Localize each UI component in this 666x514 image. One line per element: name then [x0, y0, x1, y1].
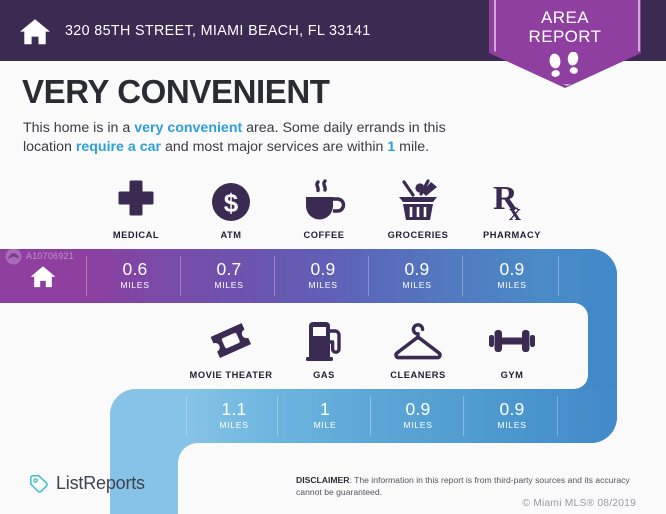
distance-value-coffee: 0.9 MILES — [278, 259, 368, 290]
amenity-label: COFFEE — [278, 230, 370, 240]
bar-divider — [274, 256, 275, 296]
subtitle-highlight-1: very convenient — [134, 120, 242, 136]
disclaimer-label: DISCLAIMER — [296, 475, 349, 485]
home-icon — [18, 14, 52, 48]
distance-number: 0.7 — [184, 259, 274, 279]
distance-unit: MILES — [184, 280, 274, 290]
bar-divider — [186, 396, 187, 436]
amenity-groceries: GROCERIES — [371, 178, 465, 240]
gas-pump-icon — [278, 318, 370, 364]
distance-number: 0.9 — [278, 259, 368, 279]
home-marker-icon — [28, 261, 58, 291]
subtitle-part-1: This home is in a — [23, 120, 134, 136]
amenity-pharmacy: R x PHARMACY — [465, 178, 559, 240]
distance-value-gas: 1 MILE — [281, 399, 369, 430]
distance-value-movie-theater: 1.1 MILES — [190, 399, 278, 430]
dumbbell-icon — [465, 318, 559, 364]
distance-unit: MILES — [466, 280, 558, 290]
distance-number: 1.1 — [190, 399, 278, 419]
amenity-label: MOVIE THEATER — [185, 370, 277, 380]
bar-divider — [463, 396, 464, 436]
amenity-label: MEDICAL — [90, 230, 182, 240]
disclaimer: DISCLAIMER: The information in this repo… — [296, 475, 636, 498]
distance-number: 0.9 — [372, 259, 462, 279]
badge-line-1: AREA — [489, 8, 641, 27]
origin-home-cell — [0, 249, 86, 303]
distance-value-gym: 0.9 MILES — [467, 399, 557, 430]
listreports-tag-icon — [28, 473, 49, 494]
distance-value-pharmacy: 0.9 MILES — [466, 259, 558, 290]
distance-number: 1 — [281, 399, 369, 419]
amenity-coffee: COFFEE — [278, 178, 370, 240]
amenity-label: GAS — [278, 370, 370, 380]
subtitle-part-3: and most major services are within — [161, 139, 387, 155]
bar-divider — [370, 396, 371, 436]
amenity-movie-theater: MOVIE THEATER — [185, 318, 277, 380]
amenity-label: CLEANERS — [371, 370, 465, 380]
distance-value-atm: 0.7 MILES — [184, 259, 274, 290]
distance-value-cleaners: 0.9 MILES — [374, 399, 462, 430]
distance-unit: MILES — [374, 420, 462, 430]
coffee-cup-icon — [278, 178, 370, 224]
movie-ticket-icon — [185, 318, 277, 364]
bar-divider — [368, 256, 369, 296]
svg-text:$: $ — [224, 188, 239, 218]
grocery-basket-icon — [371, 178, 465, 224]
page-subtitle: This home is in a very convenient area. … — [23, 119, 483, 156]
subtitle-part-4: mile. — [395, 139, 429, 155]
amenity-label: GYM — [465, 370, 559, 380]
badge-line-2: REPORT — [489, 27, 641, 46]
amenity-cleaners: CLEANERS — [371, 318, 465, 380]
mls-credit: © Miami MLS® 08/2019 — [330, 498, 636, 509]
amenity-label: ATM — [185, 230, 277, 240]
medical-cross-icon — [90, 178, 182, 224]
bar-divider — [557, 396, 558, 436]
distance-unit: MILES — [467, 420, 557, 430]
distance-unit: MILES — [190, 420, 278, 430]
amenity-medical: MEDICAL — [90, 178, 182, 240]
clothes-hanger-icon — [371, 318, 465, 364]
amenity-label: GROCERIES — [371, 230, 465, 240]
atm-dollar-icon: $ — [185, 178, 277, 224]
distance-unit: MILES — [278, 280, 368, 290]
pharmacy-rx-icon: R x — [465, 178, 559, 224]
distance-unit: MILE — [281, 420, 369, 430]
distance-unit: MILES — [372, 280, 462, 290]
amenity-atm: $ ATM — [185, 178, 277, 240]
rail-notch-upper — [560, 303, 588, 389]
page-title: VERY CONVENIENT — [22, 74, 330, 110]
amenity-label: PHARMACY — [465, 230, 559, 240]
subtitle-highlight-2: require a car — [76, 139, 161, 155]
listreports-logo-text: ListReports — [56, 473, 145, 494]
listreports-logo[interactable]: ListReports — [28, 473, 145, 494]
distance-value-medical: 0.6 MILES — [90, 259, 180, 290]
svg-text:x: x — [509, 200, 521, 224]
bar-divider — [462, 256, 463, 296]
badge-label: AREA REPORT — [489, 8, 641, 46]
bar-divider — [558, 256, 559, 296]
distance-unit: MILES — [90, 280, 180, 290]
amenity-gas: GAS — [278, 318, 370, 380]
rail-notch-lower — [178, 443, 258, 514]
amenity-gym: GYM — [465, 318, 559, 380]
bar-divider — [180, 256, 181, 296]
distance-number: 0.9 — [466, 259, 558, 279]
footprints-icon — [541, 52, 589, 82]
area-report-page: 320 85TH STREET, MIAMI BEACH, FL 33141 A… — [0, 0, 666, 514]
bar-divider — [86, 256, 87, 296]
distance-number: 0.6 — [90, 259, 180, 279]
property-address: 320 85TH STREET, MIAMI BEACH, FL 33141 — [65, 23, 371, 39]
distance-number: 0.9 — [467, 399, 557, 419]
distance-number: 0.9 — [374, 399, 462, 419]
distance-value-groceries: 0.9 MILES — [372, 259, 462, 290]
header-content: 320 85TH STREET, MIAMI BEACH, FL 33141 — [18, 0, 371, 61]
